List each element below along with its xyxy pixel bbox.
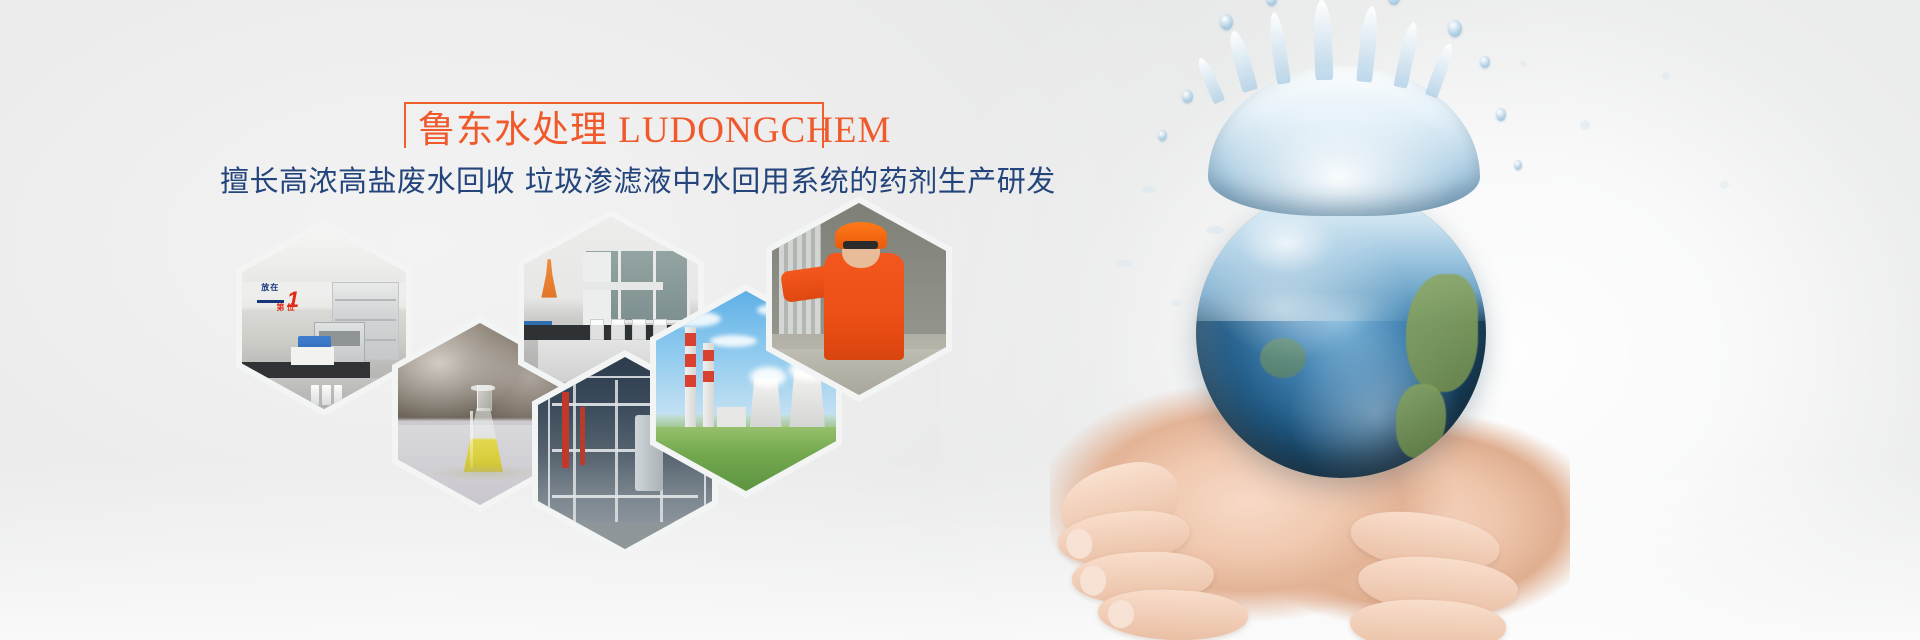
hero-banner: 鲁东水处理 LUDONGCHEM 擅长高浓高盐废水回收 垃圾渗滤液中水回用系统的… <box>0 0 1920 640</box>
erlenmeyer-flask-icon <box>464 385 503 472</box>
brand-title-block: 鲁东水处理 LUDONGCHEM <box>404 102 824 158</box>
banner-subtitle: 擅长高浓高盐废水回收 垃圾渗滤液中水回用系统的药剂生产研发 <box>220 160 986 202</box>
red-pipe-icon <box>562 392 569 469</box>
orange-stand-icon <box>541 259 557 297</box>
chimney-icon <box>685 327 696 431</box>
hexagon-photo-cluster: 放在 1 第 位 <box>236 220 956 510</box>
water-globe-artwork <box>1020 0 1920 640</box>
page-title: 鲁东水处理 LUDONGCHEM <box>418 106 810 156</box>
wall-slogan-graphic: 放在 1 第 位 <box>257 282 332 326</box>
bracket-top-rule <box>420 102 808 104</box>
earth-globe <box>1196 188 1486 478</box>
continent-shape <box>1260 338 1306 378</box>
worker-coverall <box>824 253 904 361</box>
continent-shape <box>1406 274 1478 392</box>
